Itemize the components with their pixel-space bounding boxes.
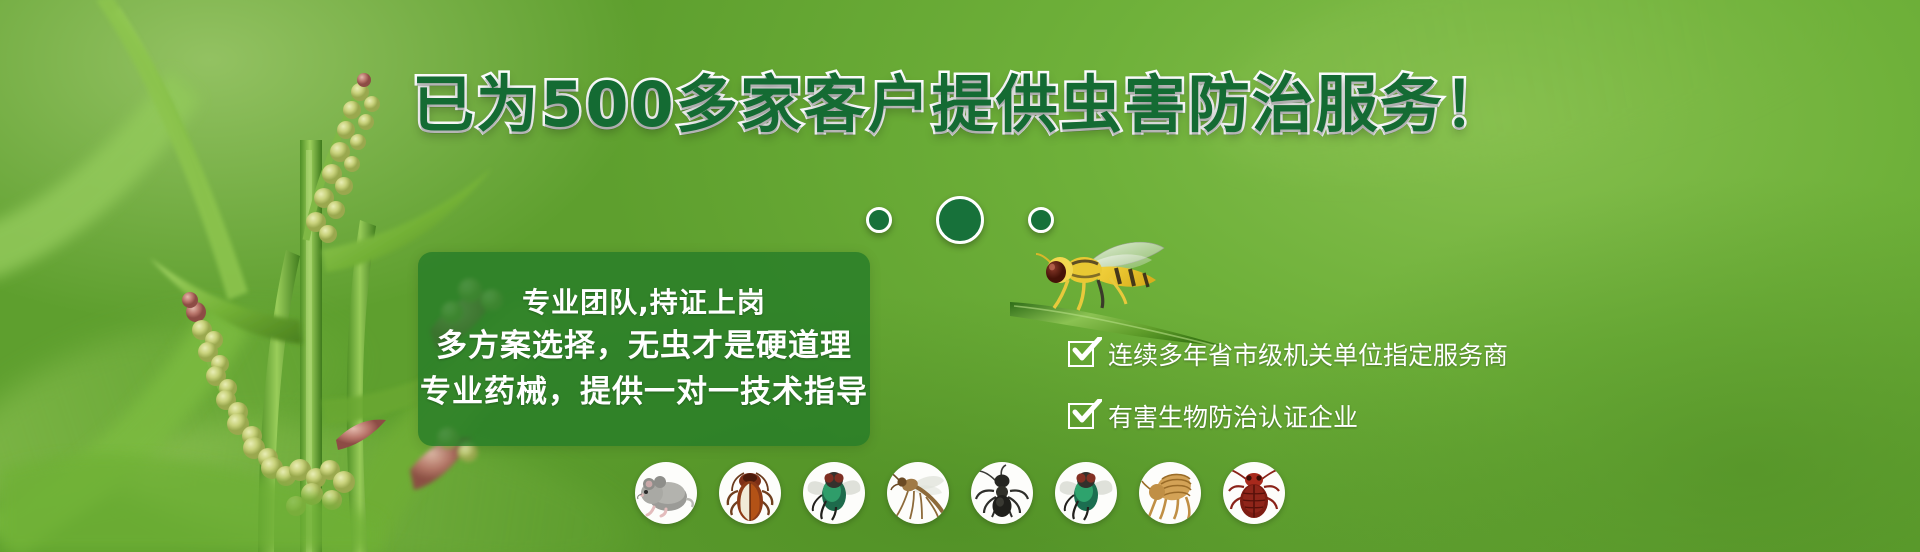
selling-points-panel: 专业团队,持证上岗 多方案选择，无虫才是硬道理 专业药械，提供一对一技术指导 xyxy=(418,252,870,446)
cockroach-icon xyxy=(719,462,781,524)
mouse-icon xyxy=(635,462,697,524)
selling-point-line-2: 多方案选择，无虫才是硬道理 xyxy=(436,327,852,367)
fly-icon xyxy=(803,462,865,524)
ant-icon xyxy=(971,462,1033,524)
certification-bullet-text: 有害生物防治认证企业 xyxy=(1108,398,1358,434)
check-square-icon xyxy=(1068,403,1094,429)
certification-bullet: 有害生物防治认证企业 xyxy=(1068,398,1508,434)
pest-icon-row xyxy=(0,462,1920,524)
blowfly-icon xyxy=(1055,462,1117,524)
pest-control-hero-banner: 已为500多家客户提供虫害防治服务！ 专业团队,持证上岗 多方案选择，无虫才是硬… xyxy=(0,0,1920,552)
certification-bullet-list: 连续多年省市级机关单位指定服务商 有害生物防治认证企业 xyxy=(1068,336,1508,434)
certification-bullet: 连续多年省市级机关单位指定服务商 xyxy=(1068,336,1508,372)
check-square-icon xyxy=(1068,341,1094,367)
decorative-dot-large-center xyxy=(936,196,984,244)
banner-headline-text: 已为500多家客户提供虫害防治服务！ xyxy=(412,68,1507,141)
bedbug-icon xyxy=(1223,462,1285,524)
decorative-dot-row xyxy=(0,196,1920,244)
flea-icon xyxy=(1139,462,1201,524)
decorative-dot-small-left xyxy=(866,207,892,233)
banner-headline: 已为500多家客户提供虫害防治服务！ xyxy=(0,74,1920,136)
selling-point-line-1: 专业团队,持证上岗 xyxy=(522,285,766,321)
mosquito-icon xyxy=(887,462,949,524)
selling-point-line-3: 专业药械，提供一对一技术指导 xyxy=(420,373,868,413)
hoverfly-illustration xyxy=(1032,238,1172,322)
checkmark-glyph xyxy=(1072,337,1102,363)
decorative-dot-small-right xyxy=(1028,207,1054,233)
certification-bullet-text: 连续多年省市级机关单位指定服务商 xyxy=(1108,336,1508,372)
checkmark-glyph xyxy=(1072,399,1102,425)
